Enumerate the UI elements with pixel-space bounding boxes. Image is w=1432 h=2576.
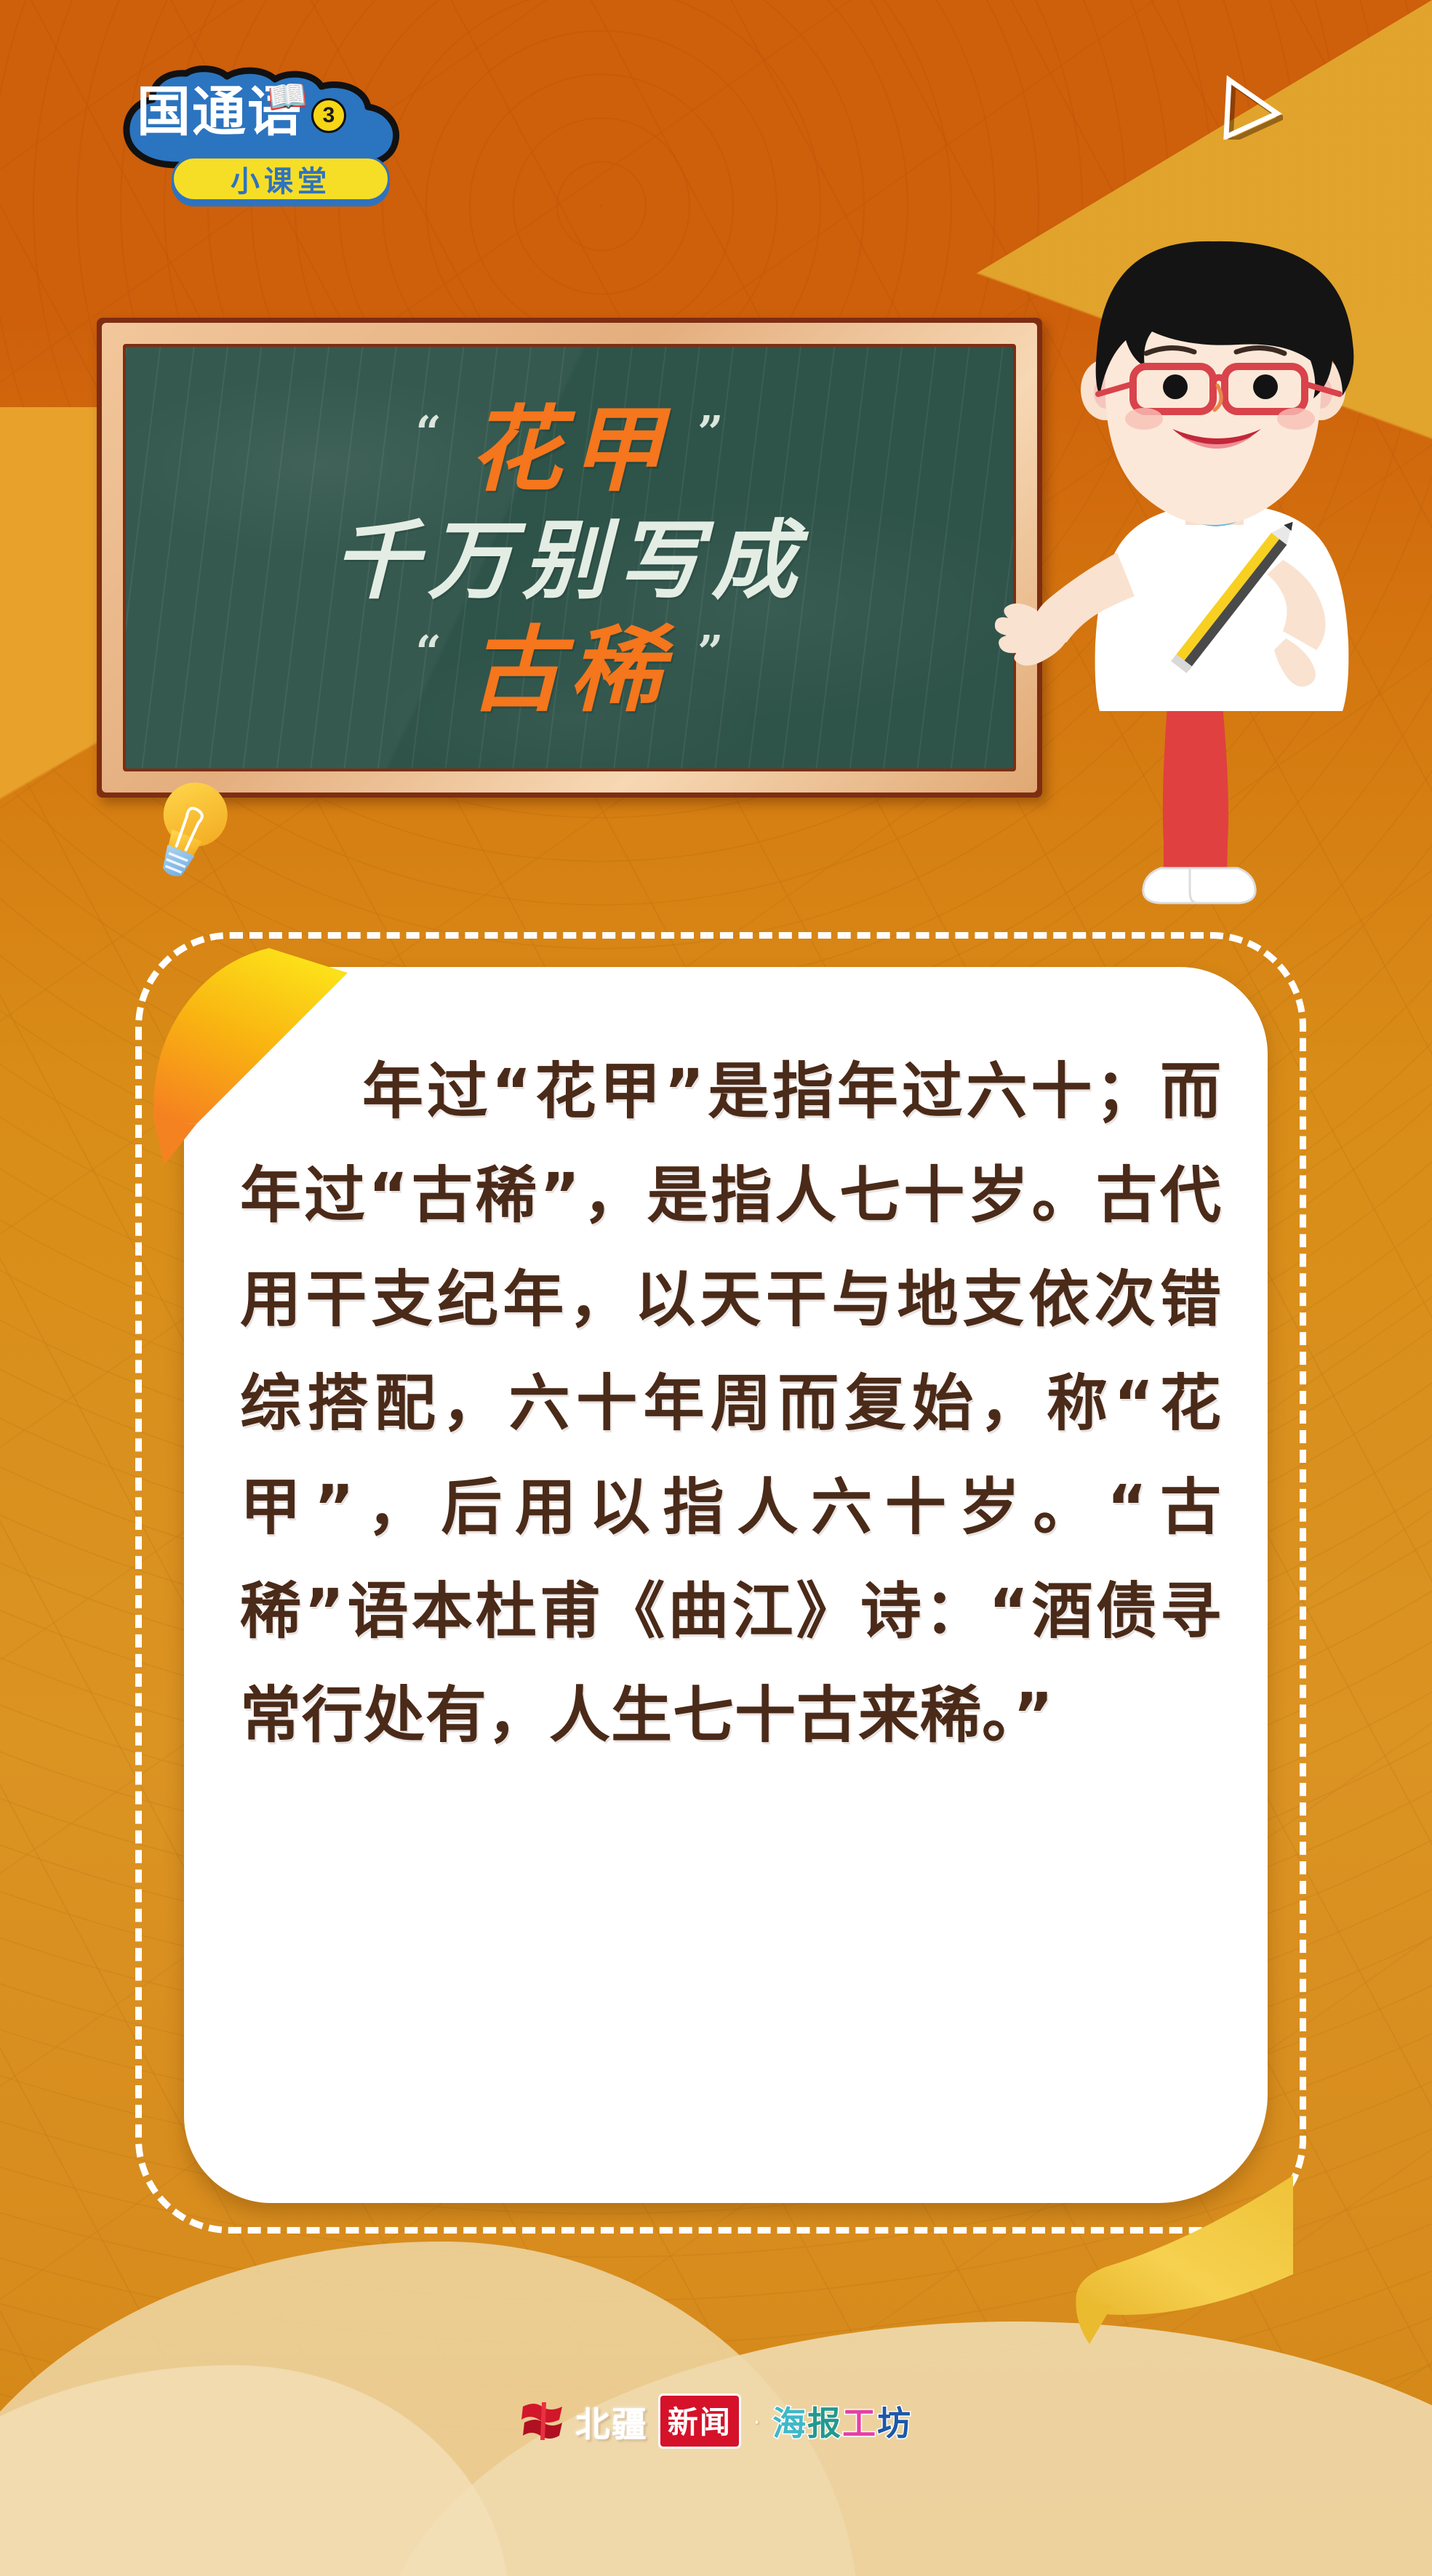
open-quote-2: “: [415, 630, 441, 675]
card-body-text: 年过“花甲”是指年过六十；而年过“古稀”，是指人七十岁。古代用干支纪年，以天干与…: [240, 1040, 1222, 1768]
blackboard-keyword-2: 古稀: [469, 620, 670, 723]
footer-branding[interactable]: 北疆 新闻 · 海报工坊: [0, 2394, 1432, 2449]
open-quote-1: “: [415, 410, 441, 455]
brand-logo[interactable]: 📖 国通语 3 小课堂: [109, 69, 429, 229]
logo-episode-badge: 3: [311, 98, 346, 133]
logo-subtitle-text: 小课堂: [231, 158, 331, 200]
blackboard-line-3: “ 古稀 ”: [126, 620, 1013, 723]
blackboard-keyword-1: 花甲: [469, 400, 670, 502]
footer-news-badge: 新闻: [658, 2394, 741, 2449]
play-triangle-icon: [1216, 73, 1283, 140]
close-quote-1: ”: [697, 410, 724, 455]
blackboard-text-block: “ 花甲 ” 千万别写成 “ 古稀 ”: [126, 347, 1013, 769]
blackboard-line-2: 千万别写成: [333, 510, 806, 613]
footer-brand-char-3: 工: [842, 2404, 877, 2443]
blackboard-surface: “ 花甲 ” 千万别写成 “ 古稀 ”: [126, 347, 1013, 769]
close-quote-2: ”: [697, 630, 724, 675]
logo-subtitle-pill: 小课堂: [172, 156, 390, 201]
footer-brand-char-2: 报: [807, 2404, 842, 2443]
ribbon-bottom-right: [1004, 2132, 1295, 2350]
blackboard-line-1: “ 花甲 ”: [126, 400, 1013, 502]
footer-brand-secondary: 海报工坊: [772, 2397, 912, 2445]
open-book-icon: 📖: [265, 76, 309, 117]
footer-separator: ·: [751, 2409, 762, 2433]
footer-brand-primary: 北疆: [575, 2396, 648, 2447]
footer-brand-char-4: 坊: [877, 2404, 912, 2443]
lightbulb-icon: [149, 774, 236, 883]
blackboard: “ 花甲 ” 千万别写成 “ 古稀 ”: [97, 318, 1042, 798]
boy-student-illustration: [995, 231, 1402, 929]
poster-root: 📖 国通语 3 小课堂 “ 花甲 ” 千万别写成: [0, 0, 1432, 2576]
footer-brand-char-1: 海: [772, 2404, 807, 2443]
beijiang-flag-icon: [520, 2401, 565, 2441]
